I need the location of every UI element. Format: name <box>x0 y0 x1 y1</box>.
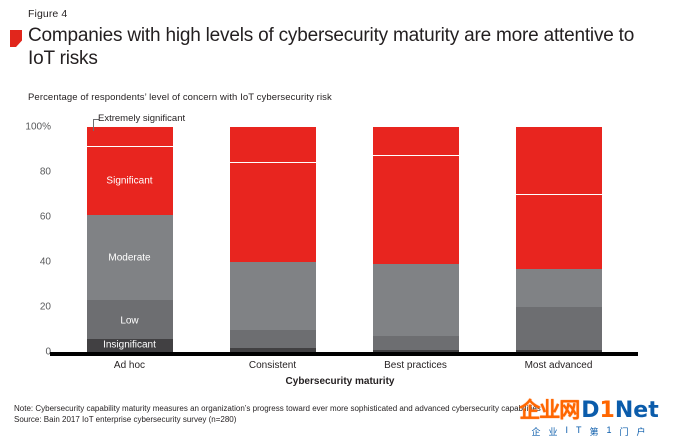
bar-segment-significant[interactable] <box>230 163 316 262</box>
plot-area: 100%806040200SignificantModerateLowInsig… <box>58 127 630 352</box>
watermark-subtitle-char: 户 <box>637 425 647 438</box>
y-axis-tick: 0 <box>45 347 51 358</box>
watermark-subtitle-char: 第 <box>589 425 599 438</box>
bar-segment-significant[interactable] <box>516 195 602 269</box>
bar-segment-insignificant[interactable] <box>87 339 173 353</box>
watermark-subtitle-char: 门 <box>620 425 630 438</box>
callout-extremely-significant: Extremely significant <box>98 113 185 124</box>
watermark-subtitle: 企业IT第1门户 <box>531 425 646 438</box>
bar-segment-low[interactable] <box>87 300 173 338</box>
bar-segment-low[interactable] <box>230 330 316 348</box>
bar-segment-moderate[interactable] <box>87 215 173 301</box>
watermark-cn-text: 企业网 <box>519 399 579 423</box>
bar-segment-low[interactable] <box>516 307 602 350</box>
watermark-subtitle-char: I <box>565 425 569 438</box>
bar-segment-significant[interactable] <box>87 147 173 215</box>
segment-label-significant: Significant <box>87 176 173 187</box>
watermark-d1net: 企业网 D 1 Net 企业IT第1门户 <box>500 398 678 438</box>
bar-most-advanced[interactable] <box>516 127 602 352</box>
y-axis-tick: 20 <box>40 302 51 313</box>
figure-number: Figure 4 <box>28 8 67 20</box>
y-axis-tick: 40 <box>40 257 51 268</box>
watermark-subtitle-char: 业 <box>548 425 558 438</box>
bar-segment-extremely-significant[interactable] <box>230 127 316 163</box>
bar-ad-hoc[interactable] <box>87 127 173 352</box>
figure-page: Figure 4 Companies with high levels of c… <box>0 0 680 440</box>
watermark-subtitle-char: 1 <box>607 425 613 438</box>
watermark-digit-one: 1 <box>600 399 615 423</box>
bar-segment-extremely-significant[interactable] <box>87 127 173 147</box>
callout-leader-vertical <box>93 119 94 131</box>
bar-segment-insignificant[interactable] <box>230 348 316 353</box>
bar-segment-extremely-significant[interactable] <box>516 127 602 195</box>
bar-segment-insignificant[interactable] <box>516 350 602 352</box>
bar-segment-moderate[interactable] <box>230 262 316 330</box>
figure-title-row: Companies with high levels of cybersecur… <box>10 24 662 70</box>
y-axis-tick: 100% <box>25 122 51 133</box>
watermark-subtitle-char: T <box>576 425 583 438</box>
watermark-d1net-text: D 1 Net <box>581 399 658 423</box>
x-axis-label: Most advanced <box>479 360 639 371</box>
x-axis-title: Cybersecurity maturity <box>0 376 680 387</box>
segment-label-insignificant: Insignificant <box>87 340 173 351</box>
bar-segment-moderate[interactable] <box>373 264 459 336</box>
watermark-logo-row: 企业网 D 1 Net <box>519 398 658 424</box>
y-axis-tick: 80 <box>40 167 51 178</box>
watermark-subtitle-char: 企 <box>531 425 541 438</box>
watermark-letter-d: D <box>581 399 599 423</box>
segment-label-moderate: Moderate <box>87 252 173 263</box>
bar-best-practices[interactable] <box>373 127 459 352</box>
x-axis-line <box>50 352 638 356</box>
x-axis-label: Ad hoc <box>50 360 210 371</box>
x-axis-label: Best practices <box>336 360 496 371</box>
bar-consistent[interactable] <box>230 127 316 352</box>
bar-segment-significant[interactable] <box>373 156 459 264</box>
x-axis-label: Consistent <box>193 360 353 371</box>
segment-label-low: Low <box>87 315 173 326</box>
bar-segment-low[interactable] <box>373 336 459 350</box>
bar-segment-extremely-significant[interactable] <box>373 127 459 156</box>
flag-icon <box>10 30 22 47</box>
watermark-word-net: Net <box>615 399 659 423</box>
bar-segment-insignificant[interactable] <box>373 350 459 352</box>
figure-subtitle: Percentage of respondents’ level of conc… <box>28 92 332 103</box>
bar-segment-moderate[interactable] <box>516 269 602 307</box>
page-title: Companies with high levels of cybersecur… <box>28 24 653 70</box>
y-axis-tick: 60 <box>40 212 51 223</box>
